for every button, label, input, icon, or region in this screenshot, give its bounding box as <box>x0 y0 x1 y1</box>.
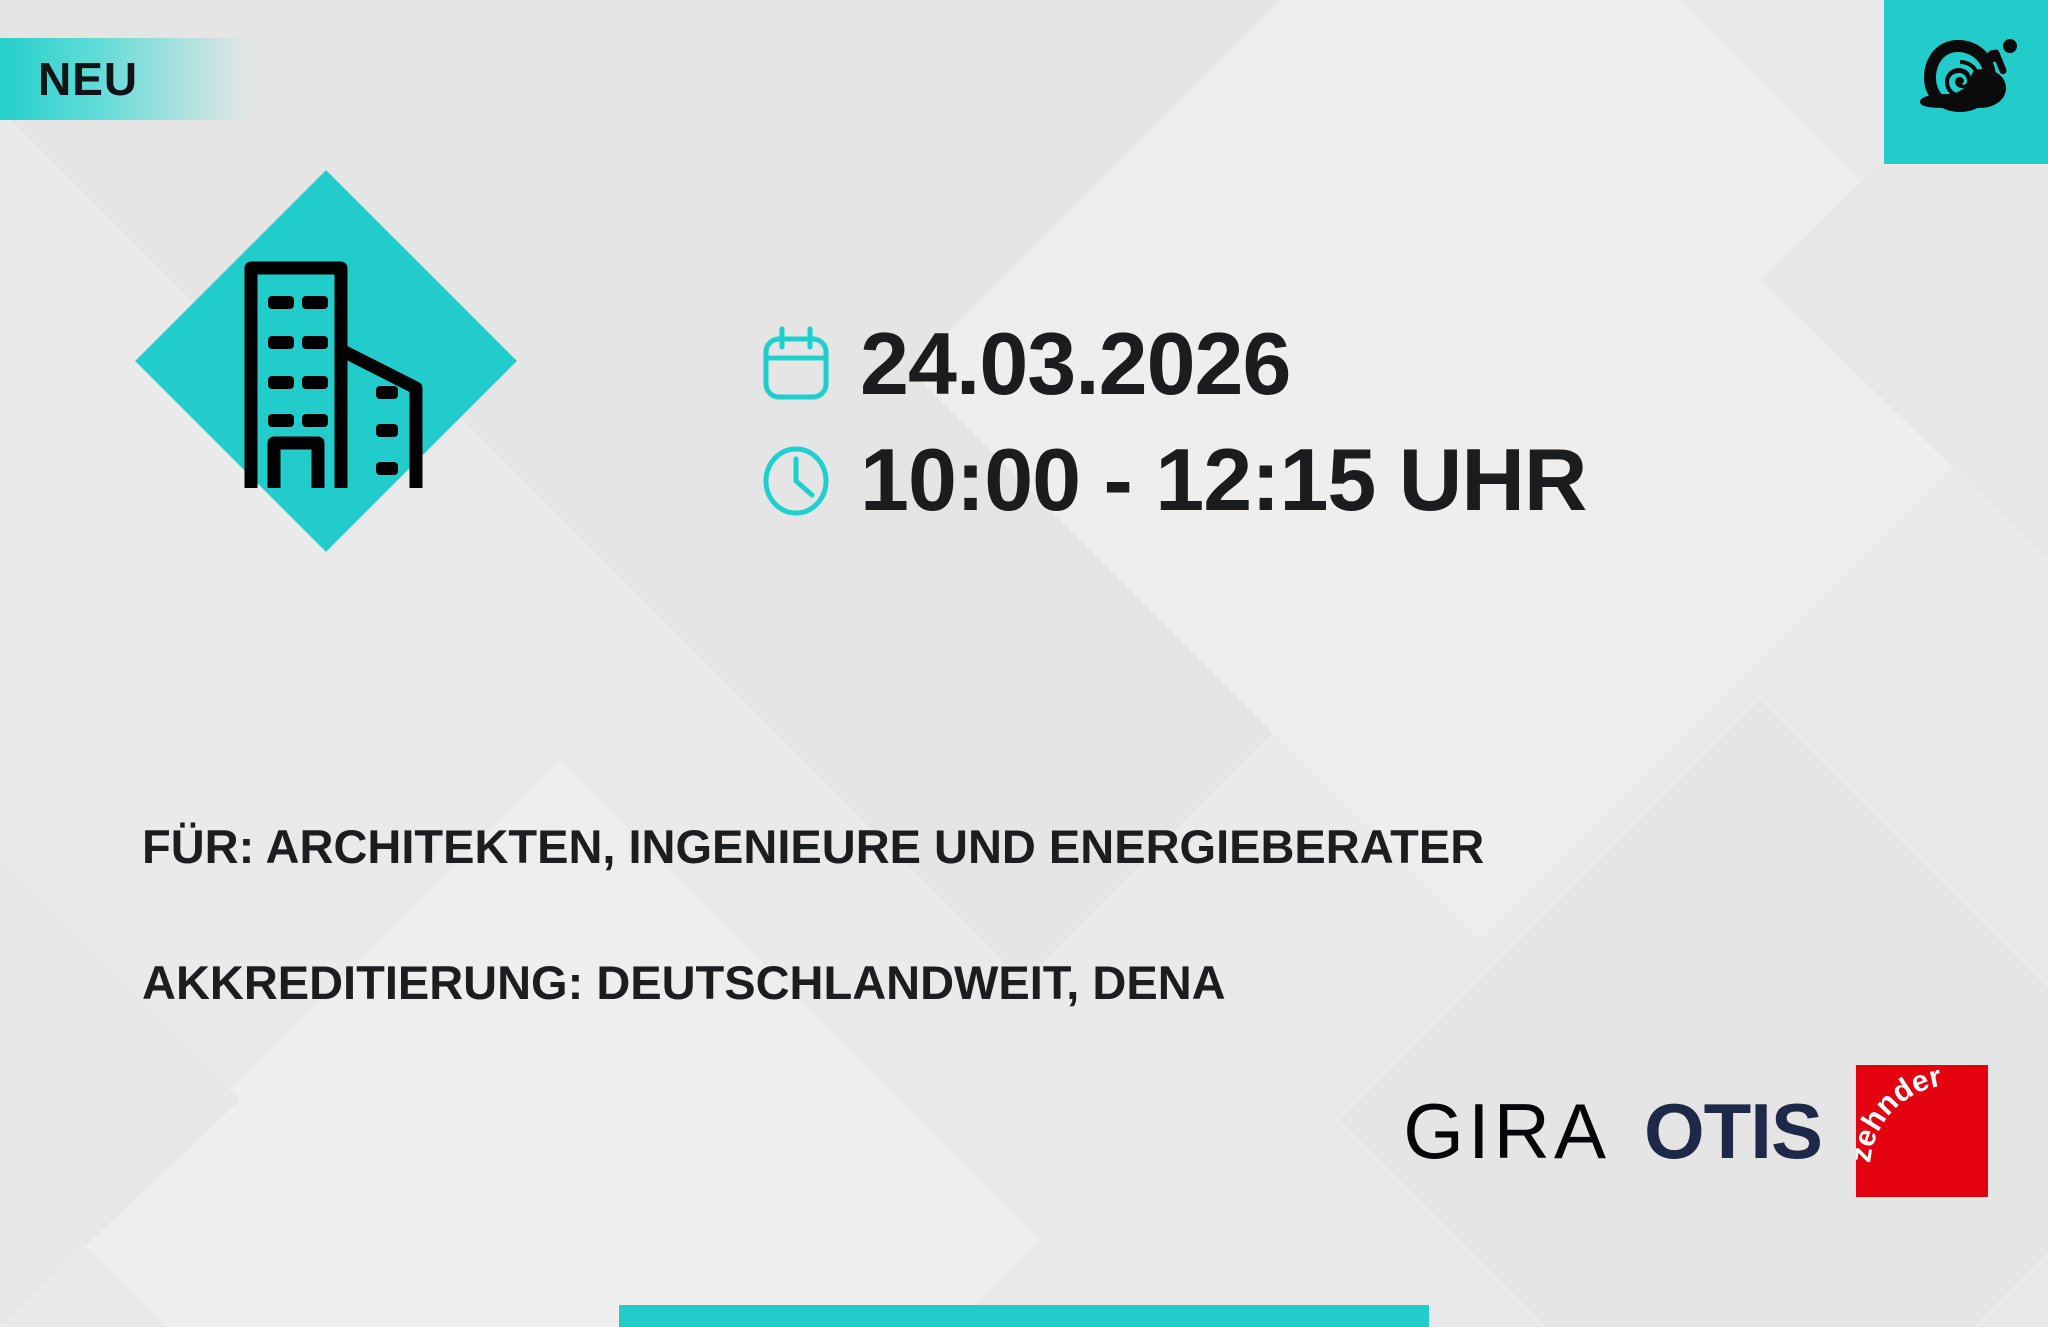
snail-icon <box>1914 36 2018 128</box>
event-details: FÜR: ARCHITEKTEN, INGENIEURE UND ENERGIE… <box>142 818 1484 1013</box>
audience-line: FÜR: ARCHITEKTEN, INGENIEURE UND ENERGIE… <box>142 818 1484 877</box>
accreditation-line: AKKREDITIERUNG: DEUTSCHLANDWEIT, DENA <box>142 954 1484 1013</box>
zehnder-logo[interactable]: zehnder <box>1856 1065 1988 1197</box>
new-badge: NEU <box>0 38 250 120</box>
new-badge-label: NEU <box>38 56 138 102</box>
gira-logo[interactable]: GIRA <box>1403 1092 1610 1170</box>
partner-logos: GIRA OTIS zehnder <box>1403 1065 1988 1197</box>
event-time-value: 10:00 - 12:15 UHR <box>860 436 1586 524</box>
hero-building-graphic <box>136 196 516 516</box>
otis-logo[interactable]: OTIS <box>1644 1092 1822 1170</box>
clock-icon <box>760 441 832 519</box>
calendar-icon <box>760 325 832 403</box>
zehnder-wordmark: zehnder <box>1856 1065 1988 1197</box>
event-date-value: 24.03.2026 <box>860 320 1290 408</box>
snail-logo[interactable] <box>1884 0 2048 164</box>
bottom-accent-bar <box>619 1305 1429 1327</box>
event-date-row: 24.03.2026 <box>760 320 1586 408</box>
svg-text:zehnder: zehnder <box>1856 1065 1944 1165</box>
event-time-row: 10:00 - 12:15 UHR <box>760 436 1586 524</box>
event-datetime: 24.03.2026 10:00 - 12:15 UHR <box>760 320 1586 552</box>
building-icon <box>204 228 464 488</box>
